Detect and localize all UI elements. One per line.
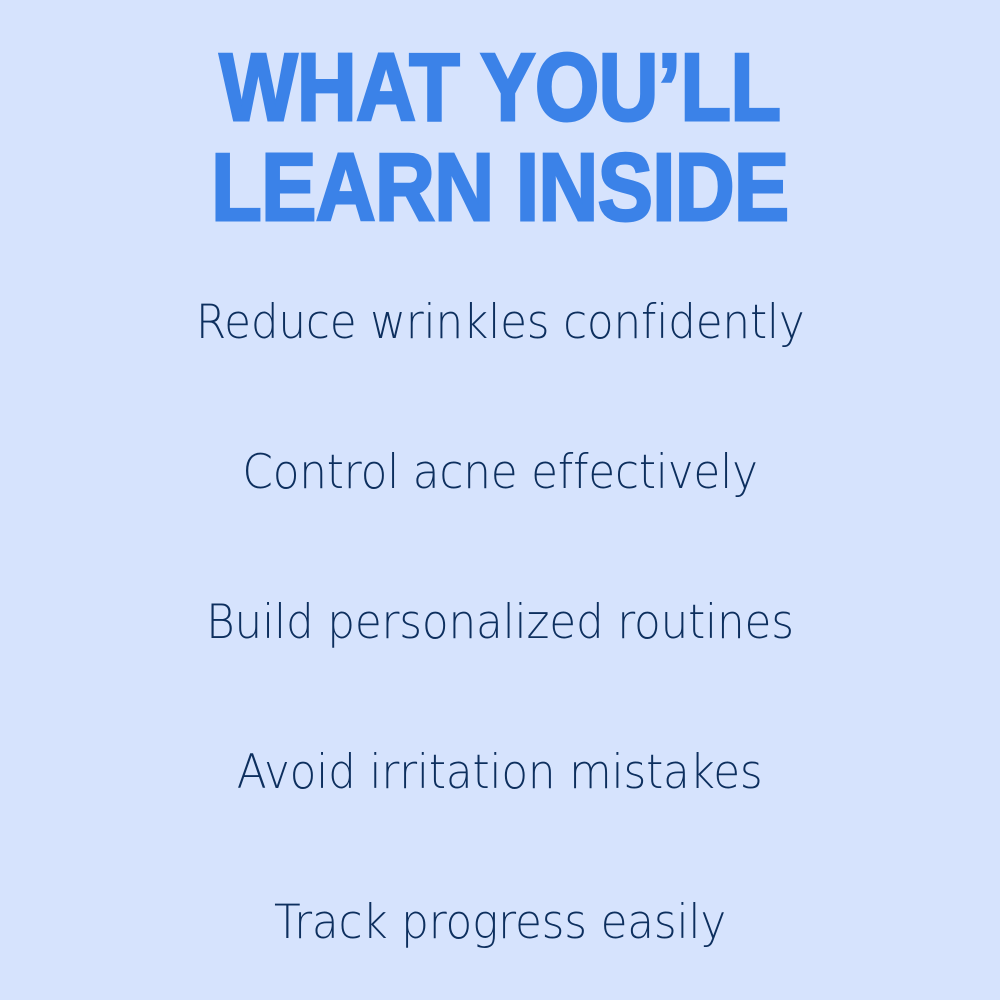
headline-line-1: WHAT YOU’LL: [70, 38, 930, 138]
poster-canvas: WHAT YOU’LL LEARN INSIDE Reduce wrinkles…: [0, 0, 1000, 1000]
page-title: WHAT YOU’LL LEARN INSIDE: [0, 38, 1000, 238]
benefit-label-4: Avoid irritation mistakes: [237, 748, 763, 797]
list-item: Avoid irritation mistakes: [0, 698, 1000, 848]
headline-line-2: LEARN INSIDE: [70, 138, 930, 238]
list-item: Track progress easily: [0, 848, 1000, 998]
list-item: Reduce wrinkles confidently: [0, 248, 1000, 398]
benefit-label-2: Control acne effectively: [242, 448, 757, 497]
benefit-label-1: Reduce wrinkles confidently: [196, 298, 805, 347]
benefit-label-5: Track progress easily: [274, 898, 726, 947]
list-item: Control acne effectively: [0, 398, 1000, 548]
benefits-list: Reduce wrinkles confidently Control acne…: [0, 248, 1000, 998]
benefit-label-3: Build personalized routines: [206, 598, 794, 647]
list-item: Build personalized routines: [0, 548, 1000, 698]
